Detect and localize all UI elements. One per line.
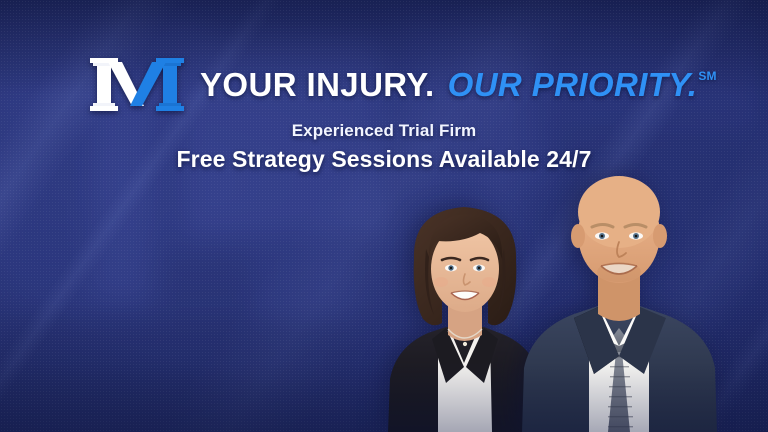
headline-primary: YOUR INJURY. <box>200 66 435 104</box>
hero-headline-block: YOUR INJURY. OUR PRIORITY. SM Experience… <box>0 56 768 173</box>
bottom-shadow <box>0 362 768 432</box>
headline-secondary: OUR PRIORITY. <box>448 66 698 104</box>
headline-row: YOUR INJURY. OUR PRIORITY. SM <box>0 56 768 114</box>
law-firm-m-column-logo-icon <box>88 56 186 114</box>
attorney-portraits <box>0 132 768 432</box>
subheadline-experienced-trial-firm: Experienced Trial Firm <box>0 121 768 141</box>
law-firm-hero-banner: YOUR INJURY. OUR PRIORITY. SM Experience… <box>0 0 768 432</box>
service-mark: SM <box>698 69 716 83</box>
subheadline-free-strategy-sessions: Free Strategy Sessions Available 24/7 <box>0 146 768 173</box>
headline-text: YOUR INJURY. OUR PRIORITY. SM <box>200 66 716 104</box>
